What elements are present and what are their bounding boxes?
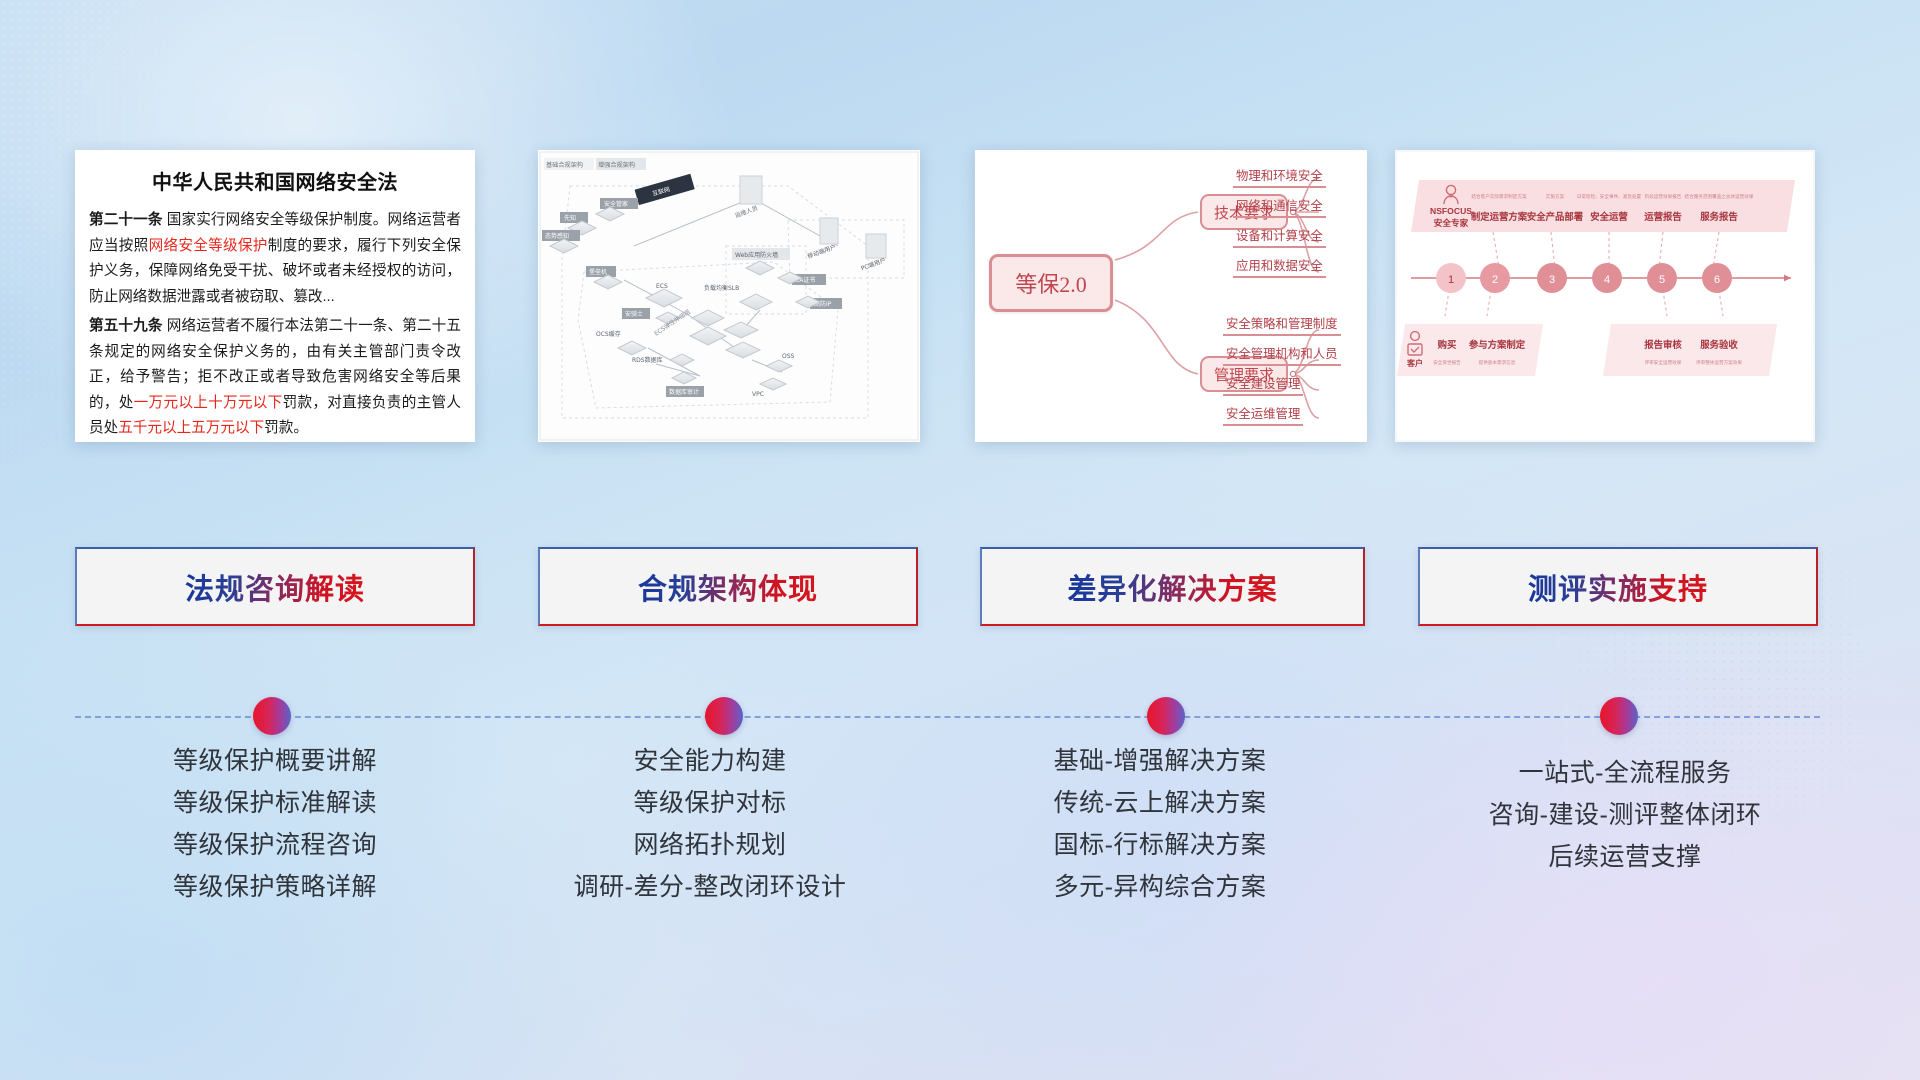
svg-text:态势感知: 态势感知 (545, 232, 569, 240)
detail-list-4: 一站式-全流程服务 咨询-建设-测评整体闭环 后续运营支撑 (1390, 752, 1860, 878)
card-cybersecurity-law[interactable]: 中华人民共和国网络安全法 第二十一条 国家实行网络安全等级保护制度。网络运营者应… (75, 150, 475, 442)
flow-bottom-title-1: 购买 (1438, 339, 1457, 350)
svg-text:先知: 先知 (564, 214, 576, 222)
cards-row: 中华人民共和国网络安全法 第二十一条 国家实行网络安全等级保护制度。网络运营者应… (0, 150, 1920, 450)
list-item: 等级保护对标 (500, 782, 920, 824)
law-title: 中华人民共和国网络安全法 (89, 166, 461, 195)
svg-text:ECS: ECS (656, 283, 668, 290)
banner-row: 法规咨询解读 合规架构体现 差异化解决方案 测评实施支持 (0, 547, 1920, 627)
mindmap: 等保2.0 技术要求 管理要求 物理和环境安全 网络和通信安全 设备和计算安全 … (975, 150, 1367, 442)
detail-list-1: 等级保护概要讲解 等级保护标准解读 等级保护流程咨询 等级保护策略详解 (75, 740, 475, 908)
mindmap-leaf-network: 网络和通信安全 (1233, 196, 1326, 218)
flow-bottom-sub-3: 评审安全运营效果 (1645, 359, 1682, 366)
list-item: 等级保护概要讲解 (75, 740, 475, 782)
law-article-21-highlight: 网络安全等级保护 (149, 238, 268, 254)
flow-marker-1: 1 (1448, 274, 1454, 286)
mindmap-leaf-physical: 物理和环境安全 (1233, 166, 1326, 188)
svg-text:数据库审计: 数据库审计 (669, 388, 699, 396)
banner-label-4: 测评实施支持 (1528, 566, 1708, 608)
law-article-21-label: 第二十一条 (89, 212, 163, 228)
topology-diagram: 基础合规架构 增强合规架构 互联网 安全管家 先知 态势感知 堡垒机 (538, 150, 920, 442)
list-item: 后续运营支撑 (1390, 836, 1860, 878)
list-item: 安全能力构建 (500, 740, 920, 782)
flow-marker-4: 4 (1604, 274, 1610, 286)
list-item: 咨询-建设-测评整体闭环 (1390, 794, 1860, 836)
svg-text:Web应用防火墙: Web应用防火墙 (735, 251, 778, 259)
mindmap-leaf-application: 应用和数据安全 (1233, 256, 1326, 278)
flow-top-title-4: 运营报告 (1644, 211, 1682, 222)
mindmap-leaf-construction: 安全建设管理 (1223, 374, 1303, 396)
svg-text:★: ★ (1448, 193, 1453, 200)
service-flow-diagram: 1 2 3 4 5 6 ★ NSFOCUS 安全专家 结合客户实际需求制定方案 … (1395, 150, 1815, 442)
list-item: 等级保护策略详解 (75, 866, 475, 908)
banner-compliance-architecture[interactable]: 合规架构体现 (538, 547, 918, 626)
card-service-flow[interactable]: 1 2 3 4 5 6 ★ NSFOCUS 安全专家 结合客户实际需求制定方案 … (1395, 150, 1815, 442)
banner-label-3: 差异化解决方案 (1067, 566, 1277, 608)
flow-top-sub-2: 实施方案 (1546, 193, 1565, 200)
list-item: 多元-异构综合方案 (940, 866, 1380, 908)
svg-text:RDS数据库: RDS数据库 (632, 356, 663, 364)
svg-text:OCS缓存: OCS缓存 (596, 330, 621, 338)
svg-text:安全管家: 安全管家 (604, 200, 628, 208)
list-item: 调研-差分-整改闭环设计 (500, 866, 920, 908)
banner-evaluation-support[interactable]: 测评实施支持 (1418, 547, 1818, 626)
flow-bottom-title-2: 参与方案制定 (1469, 339, 1526, 350)
timeline-dot-2[interactable] (705, 697, 743, 735)
list-item: 等级保护标准解读 (75, 782, 475, 824)
timeline (0, 697, 1920, 737)
list-item: 一站式-全流程服务 (1390, 752, 1860, 794)
svg-text:OSS: OSS (782, 353, 795, 360)
flow-bottom-title-3: 报告审核 (1644, 339, 1682, 350)
svg-text:堡垒机: 堡垒机 (589, 268, 607, 276)
flow-marker-3: 3 (1549, 274, 1555, 286)
mindmap-leaf-operation: 安全运维管理 (1223, 404, 1303, 426)
list-item: 网络拓扑规划 (500, 824, 920, 866)
timeline-dot-1[interactable] (253, 697, 291, 735)
list-item: 基础-增强解决方案 (940, 740, 1380, 782)
flow-top-sub-4: 阶段运营效果报告 (1645, 193, 1682, 200)
law-article-21: 第二十一条 国家实行网络安全等级保护制度。网络运营者应当按照网络安全等级保护制度… (89, 208, 461, 310)
banner-differentiated-solution[interactable]: 差异化解决方案 (980, 547, 1365, 626)
timeline-dot-3[interactable] (1147, 697, 1185, 735)
flow-top-title-5: 服务报告 (1700, 211, 1738, 222)
mindmap-leaf-org: 安全管理机构和人员 (1223, 344, 1341, 366)
list-item: 等级保护流程咨询 (75, 824, 475, 866)
mindmap-root[interactable]: 等保2.0 (989, 254, 1113, 312)
flow-top-sub-5: 结合服务范围覆盖之总体运营效果 (1685, 193, 1754, 200)
list-item: 国标-行标解决方案 (940, 824, 1380, 866)
flow-marker-2: 2 (1492, 274, 1498, 286)
flow-top-title-1: 制定运营方案 (1471, 211, 1528, 222)
topology-tab-basic: 基础合规架构 (546, 161, 583, 169)
svg-text:VPC: VPC (752, 391, 764, 398)
mindmap-leaf-policy: 安全策略和管理制度 (1223, 314, 1341, 336)
card-mindmap-dengbao[interactable]: 等保2.0 技术要求 管理要求 物理和环境安全 网络和通信安全 设备和计算安全 … (975, 150, 1367, 442)
flow-top-sub-1: 结合客户实际需求制定方案 (1471, 193, 1527, 200)
flow-bottom-sub-2: 提供基本需求信息 (1479, 359, 1516, 366)
law-article-59-highlight-1: 一万元以上十万元以下 (134, 395, 283, 411)
flow-marker-5: 5 (1659, 274, 1665, 286)
flow-actor-top-line2: 安全专家 (1434, 217, 1469, 228)
flow-bottom-title-4: 服务验收 (1700, 339, 1738, 350)
flow-top-sub-3: 日常巡检、安全事件、紧急处置 (1577, 193, 1642, 200)
banner-regulation-consulting[interactable]: 法规咨询解读 (75, 547, 475, 626)
timeline-dot-4[interactable] (1600, 697, 1638, 735)
flow-top-title-2: 安全产品部署 (1527, 211, 1584, 222)
flow-top-title-3: 安全运营 (1590, 211, 1628, 222)
detail-list-3: 基础-增强解决方案 传统-云上解决方案 国标-行标解决方案 多元-异构综合方案 (940, 740, 1380, 908)
mindmap-leaf-device: 设备和计算安全 (1233, 226, 1326, 248)
law-article-59-label: 第五十九条 (89, 318, 163, 334)
card-compliance-topology[interactable]: 基础合规架构 增强合规架构 互联网 安全管家 先知 态势感知 堡垒机 (538, 150, 920, 442)
flow-actor-top-line1: NSFOCUS (1430, 206, 1472, 216)
law-article-59-text-c: 罚款。 (264, 420, 308, 436)
flow-actor-bottom: 客户 (1406, 358, 1423, 368)
flow-bottom-sub-4: 评审整体运营方案效果 (1696, 359, 1742, 366)
banner-label-1: 法规咨询解读 (185, 566, 365, 608)
svg-text:负载均衡SLB: 负载均衡SLB (704, 284, 739, 292)
law-article-59: 第五十九条 网络运营者不履行本法第二十一条、第二十五条规定的网络安全保护义务的，… (89, 314, 461, 442)
flow-bottom-sub-1: 安全资世报告 (1433, 359, 1461, 366)
list-item: 传统-云上解决方案 (940, 782, 1380, 824)
topology-tab-enhanced: 增强合规架构 (598, 161, 635, 169)
svg-text:安骑士: 安骑士 (625, 310, 643, 318)
law-article-59-highlight-2: 五千元以上五万元以下 (118, 420, 264, 436)
timeline-dashed-line (75, 716, 1820, 718)
flow-marker-6: 6 (1714, 274, 1720, 286)
detail-list-2: 安全能力构建 等级保护对标 网络拓扑规划 调研-差分-整改闭环设计 (500, 740, 920, 908)
law-document: 中华人民共和国网络安全法 第二十一条 国家实行网络安全等级保护制度。网络运营者应… (75, 150, 475, 442)
banner-label-2: 合规架构体现 (638, 566, 818, 608)
